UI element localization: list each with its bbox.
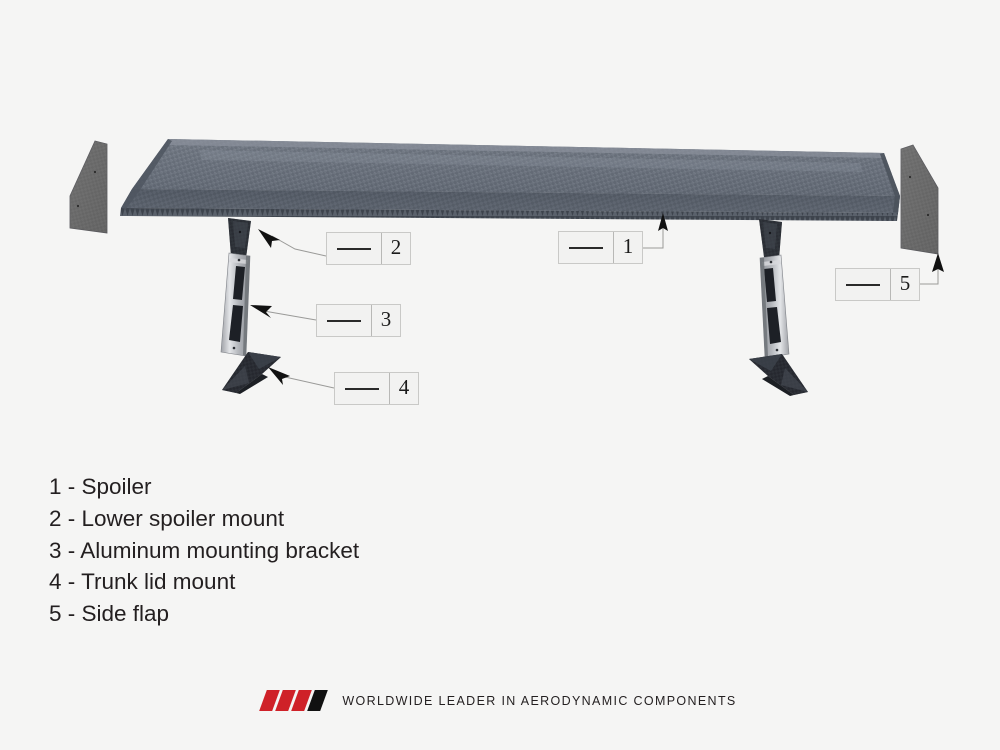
legend-item-3: 3 - Aluminum mounting bracket bbox=[49, 535, 359, 567]
dash-icon bbox=[846, 284, 880, 286]
legend-item-5: 5 - Side flap bbox=[49, 598, 359, 630]
callout-dash-cell-3 bbox=[317, 305, 372, 336]
callout-dash-cell-5 bbox=[836, 269, 891, 300]
callout-layer: 1 2 3 4 5 bbox=[0, 0, 1000, 750]
footer-tagline: WORLDWIDE LEADER IN AERODYNAMIC COMPONEN… bbox=[342, 694, 736, 708]
dash-icon bbox=[337, 248, 371, 250]
callout-dash-cell-4 bbox=[335, 373, 390, 404]
brand-logo-icon bbox=[263, 690, 327, 711]
legend-list: 1 - Spoiler 2 - Lower spoiler mount 3 - … bbox=[49, 471, 359, 630]
footer-branding: WORLDWIDE LEADER IN AERODYNAMIC COMPONEN… bbox=[0, 690, 1000, 711]
callout-box-3[interactable]: 3 bbox=[316, 304, 401, 337]
callout-box-1[interactable]: 1 bbox=[558, 231, 643, 264]
dash-icon bbox=[327, 320, 361, 322]
product-diagram-canvas: 1 2 3 4 5 1 - Spoiler bbox=[0, 0, 1000, 750]
callout-dash-cell-2 bbox=[327, 233, 382, 264]
callout-box-4[interactable]: 4 bbox=[334, 372, 419, 405]
callout-number-1: 1 bbox=[614, 232, 642, 263]
callout-number-2: 2 bbox=[382, 233, 410, 264]
dash-icon bbox=[569, 247, 603, 249]
legend-item-2: 2 - Lower spoiler mount bbox=[49, 503, 359, 535]
legend-item-4: 4 - Trunk lid mount bbox=[49, 566, 359, 598]
callout-number-4: 4 bbox=[390, 373, 418, 404]
callout-box-5[interactable]: 5 bbox=[835, 268, 920, 301]
dash-icon bbox=[345, 388, 379, 390]
callout-box-2[interactable]: 2 bbox=[326, 232, 411, 265]
legend-item-1: 1 - Spoiler bbox=[49, 471, 359, 503]
callout-number-3: 3 bbox=[372, 305, 400, 336]
callout-number-5: 5 bbox=[891, 269, 919, 300]
callout-dash-cell-1 bbox=[559, 232, 614, 263]
